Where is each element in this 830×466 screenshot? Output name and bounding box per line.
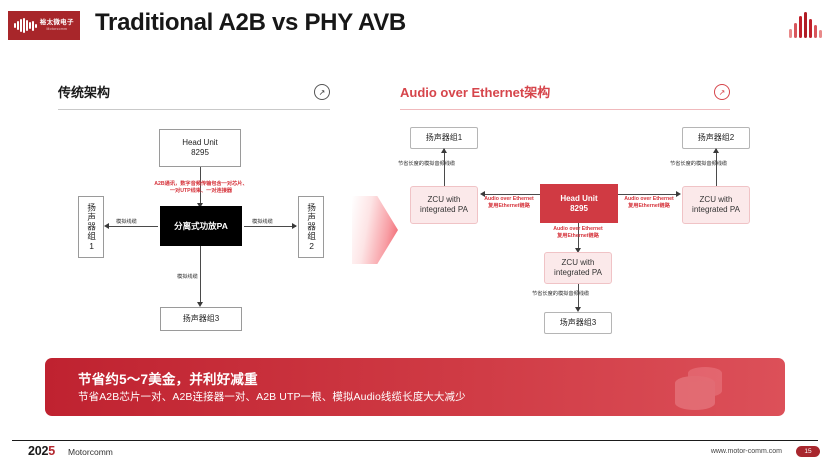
zcu-right-line1: ZCU with: [692, 195, 740, 205]
zcu-left-line2: integrated PA: [420, 205, 468, 215]
arrow-up-right-icon[interactable]: ↗: [714, 84, 730, 100]
page-number-badge: 15: [796, 446, 820, 457]
right-label-save-cable-bottom: 节省长度的模拟音频线缆: [532, 291, 589, 298]
footer-divider: [12, 440, 818, 441]
head-unit-line1: Head Unit: [560, 194, 597, 204]
left-link-pa-spk3: [200, 246, 201, 304]
arrow-left-icon: [104, 223, 109, 229]
right-node-zcu-right: ZCU with integrated PA: [682, 186, 750, 224]
left-label-analog-right: 模拟线缆: [252, 219, 273, 226]
speaker2-label: 扬声器组2: [306, 203, 315, 252]
arrow-right-icon: [292, 223, 297, 229]
aoe-right-line2: 复用Ethernet链路: [618, 203, 680, 210]
a2b-note-line2: 一对UTP线束、一对连接器: [136, 188, 266, 195]
zcu-right-line2: integrated PA: [692, 205, 740, 215]
left-node-speaker-group-2: 扬声器组2: [298, 196, 324, 258]
left-label-analog-down: 模拟线缆: [177, 274, 198, 281]
aoe-bottom-line2: 复用Ethernet链路: [547, 233, 609, 240]
waveform-mark-icon: [789, 12, 822, 38]
left-label-analog-left: 模拟线缆: [116, 219, 137, 226]
slide-header: 裕太微电子 Motorcomm Traditional A2B vs PHY A…: [0, 0, 830, 52]
summary-banner: 节省约5～7美金，并利好减重 节省A2B芯片一对、A2B连接器一对、A2B UT…: [45, 358, 785, 416]
left-node-amp-pa: 分离式功放PA: [160, 206, 242, 246]
right-link-hu-zcu-right: [618, 194, 678, 195]
section-title: Audio over Ethernet架构: [400, 86, 730, 99]
speaker1-label: 扬声器组1: [86, 203, 95, 252]
banner-headline: 节省约5～7美金，并利好减重: [78, 368, 258, 388]
logo-text: 裕太微电子 Motorcomm: [40, 20, 74, 31]
footer-url[interactable]: www.motor-comm.com: [711, 448, 782, 455]
head-unit-line2: 8295: [182, 148, 218, 158]
right-node-zcu-bottom: ZCU with integrated PA: [544, 252, 612, 284]
zcu-bottom-line2: integrated PA: [554, 268, 602, 278]
company-logo: 裕太微电子 Motorcomm: [8, 11, 80, 40]
right-node-head-unit: Head Unit 8295: [540, 184, 618, 223]
arrow-up-icon: [713, 148, 719, 153]
footer-brand: Motorcomm: [68, 447, 113, 457]
right-link-hu-zcu-left: [484, 194, 540, 195]
arrow-up-right-icon[interactable]: ↗: [314, 84, 330, 100]
arrow-up-icon: [441, 148, 447, 153]
left-node-speaker-group-1: 扬声器组1: [78, 196, 104, 258]
right-node-speaker-group-1: 扬声器组1: [410, 127, 478, 149]
waveform-icon: [14, 18, 37, 33]
right-label-save-cable-left: 节省长度的模拟音频线缆: [398, 161, 455, 168]
page-title: Traditional A2B vs PHY AVB: [95, 9, 406, 37]
left-label-a2b-note: A2B通讯，数字音频传输包含一对芯片、 一对UTP线束、一对连接器: [136, 181, 266, 196]
right-label-save-cable-right: 节省长度的模拟音频线缆: [670, 161, 727, 168]
section-title: 传统架构: [58, 86, 330, 99]
divider: [58, 109, 330, 110]
section-header-traditional: 传统架构 ↗: [58, 86, 330, 110]
logo-name-en: Motorcomm: [46, 28, 67, 31]
head-unit-line2: 8295: [560, 204, 597, 214]
right-node-zcu-left: ZCU with integrated PA: [410, 186, 478, 224]
right-node-speaker-group-2: 扬声器组2: [682, 127, 750, 149]
section-header-aoe: Audio over Ethernet架构 ↗: [400, 86, 730, 110]
slide-canvas: 裕太微电子 Motorcomm Traditional A2B vs PHY A…: [0, 0, 830, 466]
banner-subline: 节省A2B芯片一对、A2B连接器一对、A2B UTP一根、模拟Audio线缆长度…: [78, 389, 466, 404]
transition-arrow-icon: [352, 196, 398, 264]
footer-year: 2025: [28, 444, 55, 458]
right-label-aoe-left: Audio over Ethernet 复用Ethernet链路: [478, 196, 540, 211]
left-node-speaker-group-3: 扬声器组3: [160, 307, 242, 331]
footer-year-suffix: 5: [48, 444, 55, 458]
left-node-head-unit: Head Unit 8295: [159, 129, 241, 167]
divider: [400, 109, 730, 110]
aoe-left-line2: 复用Ethernet链路: [478, 203, 540, 210]
right-label-aoe-right: Audio over Ethernet 复用Ethernet链路: [618, 196, 680, 211]
database-icon: [669, 363, 729, 413]
zcu-bottom-line1: ZCU with: [554, 258, 602, 268]
right-label-aoe-bottom: Audio over Ethernet 复用Ethernet链路: [547, 226, 609, 241]
head-unit-line1: Head Unit: [182, 138, 218, 148]
right-node-speaker-group-3: 场声器组3: [544, 312, 612, 334]
logo-name-cn: 裕太微电子: [40, 20, 74, 27]
footer-year-prefix: 202: [28, 444, 48, 458]
zcu-left-line1: ZCU with: [420, 195, 468, 205]
